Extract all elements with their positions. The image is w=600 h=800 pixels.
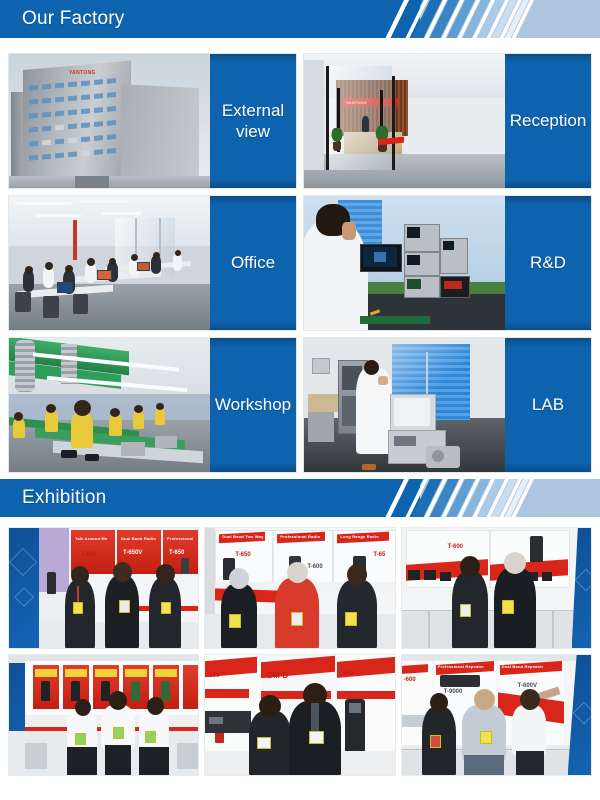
exhibition-row: -600 DM-D -650 (8, 654, 592, 776)
factory-label-text: Workshop (215, 394, 291, 415)
factory-cell-reception[interactable]: YANTONG Reception (303, 53, 592, 189)
section-title-our-factory: Our Factory (22, 0, 125, 38)
banner-diagonal-stripes (396, 479, 600, 517)
photo-expo-booth-3: T-600 (402, 528, 591, 648)
factory-label-text: External view (214, 100, 292, 143)
factory-row: Workshop (8, 337, 592, 473)
exhibition-grid: Talk Around Me Dual Band Radio Professio… (0, 517, 600, 789)
section-title-exhibition: Exhibition (22, 479, 106, 517)
exhibition-cell-6[interactable]: Professional Repeater Dual Band Repeater… (401, 654, 592, 776)
section-banner-exhibition: Exhibition (0, 479, 600, 517)
exhibition-cell-1[interactable]: Talk Around Me Dual Band Radio Professio… (8, 527, 199, 649)
factory-row: Office (8, 195, 592, 331)
photo-expo-booth-1: Talk Around Me Dual Band Radio Professio… (9, 528, 198, 648)
factory-row: YANTONG External view (8, 53, 592, 189)
factory-cell-workshop[interactable]: Workshop (8, 337, 297, 473)
factory-cell-label: Office (210, 196, 296, 330)
photo-expo-booth-2: Dual Band Two Way Radio Professional Rad… (205, 528, 394, 648)
section-banner-our-factory: Our Factory (0, 0, 600, 38)
factory-cell-label: R&D (505, 196, 591, 330)
factory-cell-external-view[interactable]: YANTONG External view (8, 53, 297, 189)
exhibition-cell-4[interactable] (8, 654, 199, 776)
photo-expo-booth-5: -600 DM-D -650 (205, 655, 394, 775)
factory-exhibition-page: Our Factory YANTONG (0, 0, 600, 800)
exhibition-cell-2[interactable]: Dual Band Two Way Radio Professional Rad… (204, 527, 395, 649)
factory-label-text: R&D (530, 252, 566, 273)
factory-cell-lab[interactable]: LAB (303, 337, 592, 473)
factory-cell-label: LAB (505, 338, 591, 472)
factory-cell-rnd[interactable]: R&D (303, 195, 592, 331)
factory-label-text: Office (231, 252, 275, 273)
photo-expo-booth-4 (9, 655, 198, 775)
factory-label-text: LAB (532, 394, 564, 415)
exhibition-cell-3[interactable]: T-600 (401, 527, 592, 649)
factory-grid: YANTONG External view (0, 47, 600, 473)
factory-label-text: Reception (510, 110, 587, 131)
exhibition-cell-5[interactable]: -600 DM-D -650 (204, 654, 395, 776)
banner-diagonal-stripes (396, 0, 600, 38)
factory-cell-label: External view (210, 54, 296, 188)
factory-cell-office[interactable]: Office (8, 195, 297, 331)
photo-expo-booth-6: Professional Repeater Dual Band Repeater… (402, 655, 591, 775)
factory-cell-label: Workshop (210, 338, 296, 472)
banner-spacer (0, 38, 600, 47)
exhibition-row: Talk Around Me Dual Band Radio Professio… (8, 527, 592, 649)
factory-cell-label: Reception (505, 54, 591, 188)
